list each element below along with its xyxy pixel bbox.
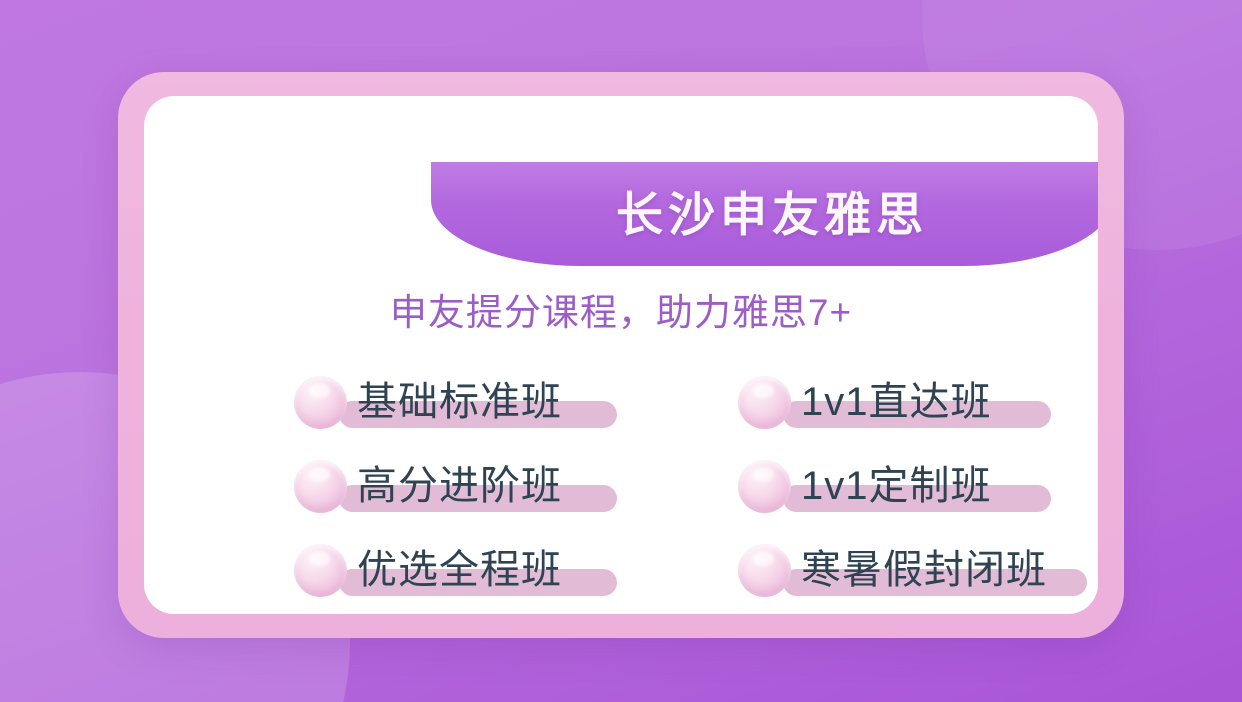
course-label-wrap: 基础标准班	[357, 368, 562, 436]
list-item[interactable]: 优选全程班	[294, 536, 724, 604]
course-label-wrap: 优选全程班	[357, 536, 562, 604]
subtitle-text: 申友提分课程，助力雅思7+	[144, 291, 1098, 335]
course-label: 寒暑假封闭班	[801, 550, 1047, 590]
course-label-wrap: 高分进阶班	[357, 452, 562, 520]
course-label: 基础标准班	[357, 382, 562, 422]
title-banner: 长沙申友雅思	[431, 162, 1098, 266]
bubble-bullet-icon	[738, 376, 791, 429]
list-item[interactable]: 基础标准班	[294, 368, 724, 436]
course-label: 1v1定制班	[801, 466, 992, 506]
course-label: 高分进阶班	[357, 466, 562, 506]
course-label: 优选全程班	[357, 550, 562, 590]
bubble-bullet-icon	[294, 544, 347, 597]
list-item[interactable]: 寒暑假封闭班	[738, 536, 1098, 604]
course-label-wrap: 寒暑假封闭班	[801, 536, 1047, 604]
list-item[interactable]: 高分进阶班	[294, 452, 724, 520]
card-frame: 长沙申友雅思 申友提分课程，助力雅思7+ 基础标准班 1v1直达班	[118, 72, 1124, 638]
course-label: 1v1直达班	[801, 382, 992, 422]
list-item[interactable]: 1v1直达班	[738, 368, 1098, 436]
course-label-wrap: 1v1直达班	[801, 368, 992, 436]
poster-canvas: 长沙申友雅思 申友提分课程，助力雅思7+ 基础标准班 1v1直达班	[0, 0, 1242, 702]
card-inner-panel: 长沙申友雅思 申友提分课程，助力雅思7+ 基础标准班 1v1直达班	[144, 96, 1098, 614]
bubble-bullet-icon	[738, 460, 791, 513]
bubble-bullet-icon	[294, 460, 347, 513]
course-label-wrap: 1v1定制班	[801, 452, 992, 520]
list-item[interactable]: 1v1定制班	[738, 452, 1098, 520]
bubble-bullet-icon	[294, 376, 347, 429]
bubble-bullet-icon	[738, 544, 791, 597]
page-title: 长沙申友雅思	[616, 191, 928, 238]
course-list: 基础标准班 1v1直达班 高分进阶班	[294, 368, 1098, 604]
